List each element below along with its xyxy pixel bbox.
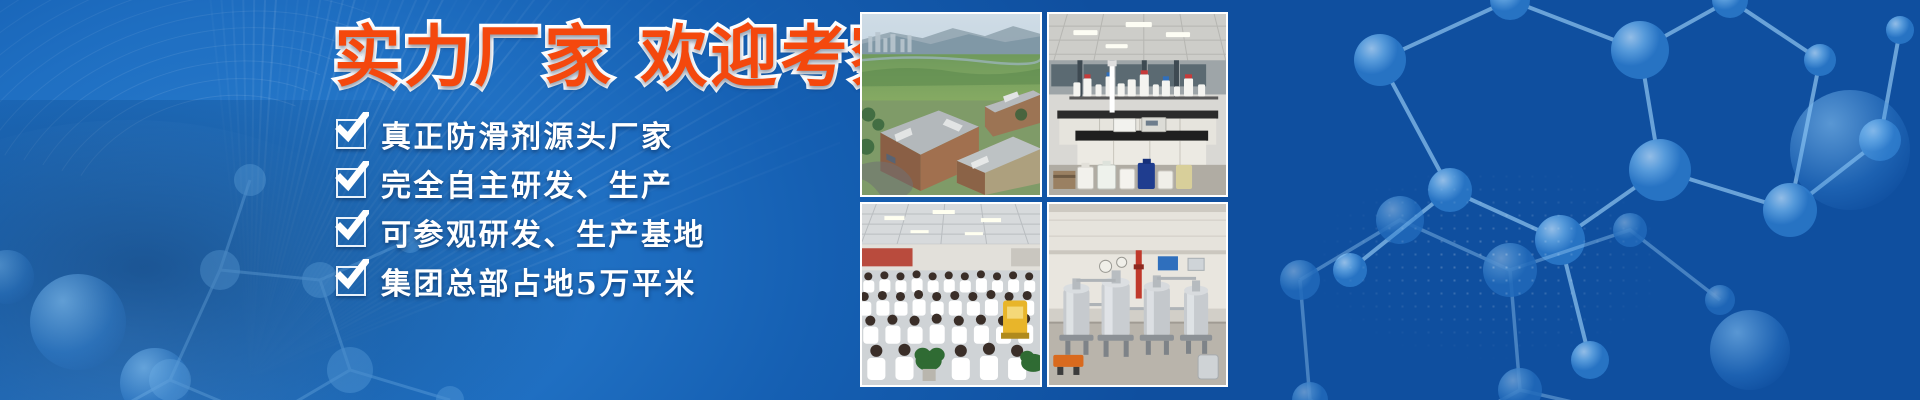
checkbox-checked-icon [336, 168, 366, 198]
halftone-dots-decoration [1240, 170, 1660, 400]
aerial-campus-photo[interactable] [860, 12, 1042, 197]
feature-list-item: 集团总部占地5万平米 [336, 259, 706, 303]
laboratory-photo[interactable] [1047, 12, 1229, 197]
checkbox-checked-icon [336, 119, 366, 149]
staff-assembly-photo[interactable] [860, 202, 1042, 387]
bubble-decoration [1790, 90, 1910, 210]
feature-list-item-label: 可参观研发、生产基地 [381, 210, 706, 254]
feature-list-item-label: 集团总部占地5万平米 [381, 259, 697, 303]
feature-list-item: 真正防滑剂源头厂家 [336, 112, 706, 156]
feature-list-item: 完全自主研发、生产 [336, 161, 706, 205]
feature-list: 真正防滑剂源头厂家 完全自主研发、生产 可参观研发、生产基地 [336, 112, 706, 308]
production-equipment-photo[interactable] [1047, 202, 1229, 387]
photo-grid [860, 12, 1228, 387]
bubble-decoration [1710, 310, 1790, 390]
checkbox-checked-icon [336, 266, 366, 296]
feature-list-item-label: 真正防滑剂源头厂家 [381, 112, 674, 156]
feature-list-item: 可参观研发、生产基地 [336, 210, 706, 254]
feature-list-item-label: 完全自主研发、生产 [381, 161, 674, 205]
promo-banner: 实力厂家 欢迎考察 真正防滑剂源头厂家 完全自主研发、生产 [0, 0, 1920, 400]
checkbox-checked-icon [336, 217, 366, 247]
headline-title: 实力厂家 欢迎考察 [334, 24, 920, 91]
